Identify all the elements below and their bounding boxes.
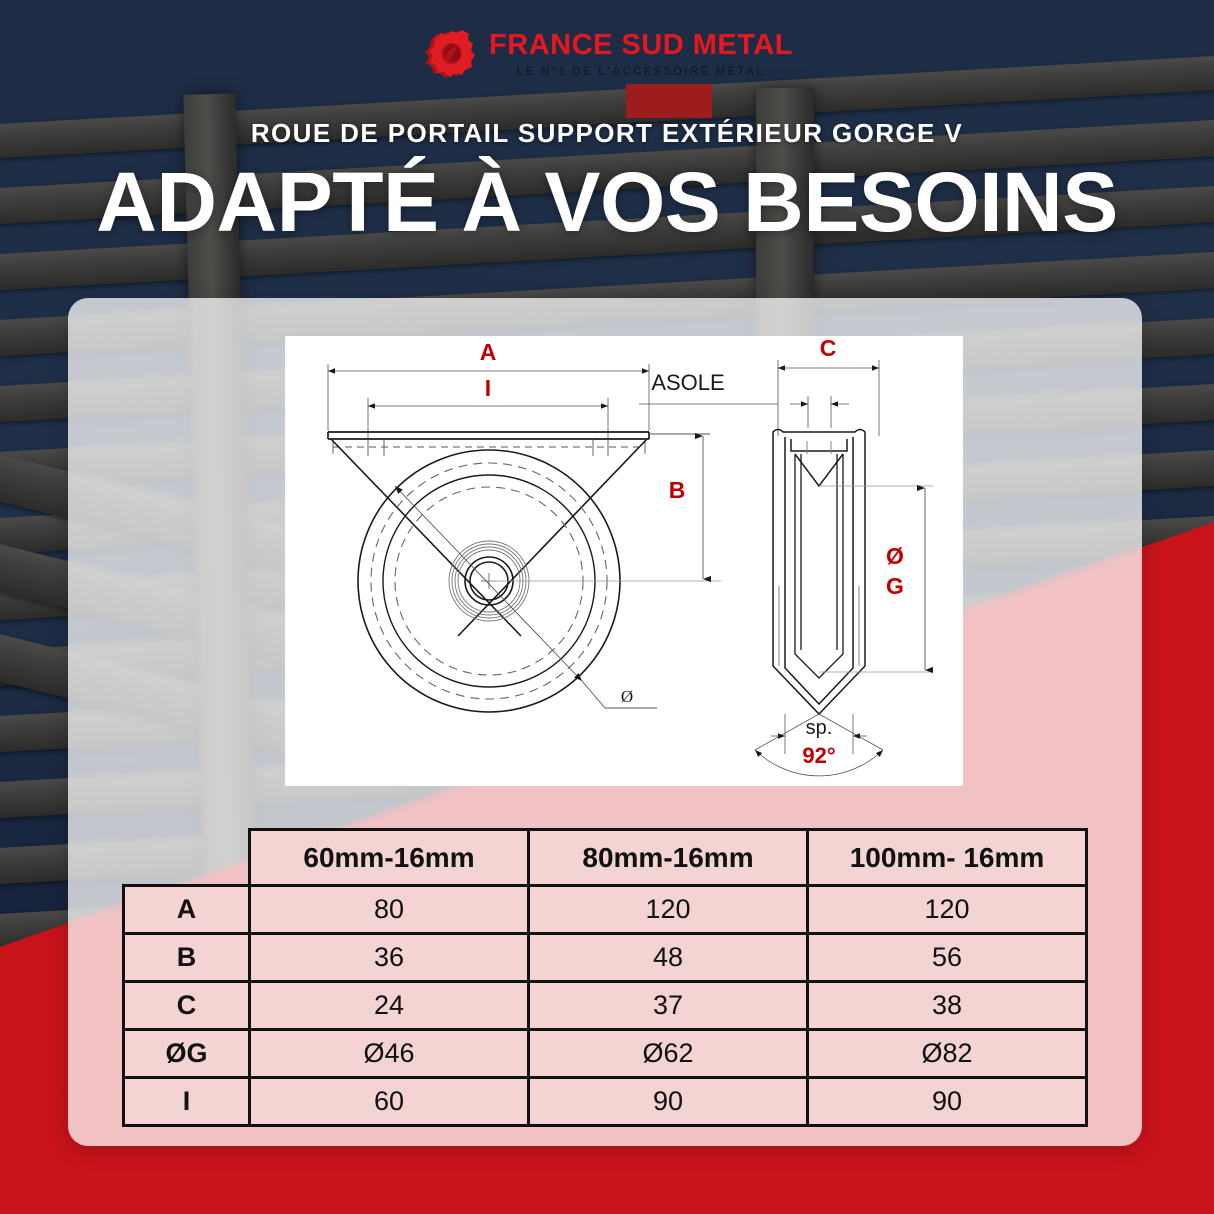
cell-phig-80mm: Ø62 — [529, 1030, 808, 1078]
table-col-header-2: 80mm-16mm — [529, 830, 808, 886]
cell-phig-100mm: Ø82 — [808, 1030, 1087, 1078]
page-headline: ADAPTÉ À VOS BESOINS — [0, 160, 1214, 244]
table-corner-cell — [124, 830, 250, 886]
table-col-header-3: 100mm- 16mm — [808, 830, 1087, 886]
row-label-a: A — [124, 886, 250, 934]
dim-label-a: A — [480, 339, 497, 365]
row-label-i: I — [124, 1078, 250, 1126]
cell-a-60mm: 80 — [250, 886, 529, 934]
cell-a-80mm: 120 — [529, 886, 808, 934]
table-header-row: 60mm-16mm 80mm-16mm 100mm- 16mm — [124, 830, 1087, 886]
cell-b-80mm: 48 — [529, 934, 808, 982]
poster-root: FRANCE SUD METAL LE N°1 DE L'ACCESSOIRE … — [0, 0, 1214, 1214]
dim-label-phi: Ø — [886, 543, 904, 569]
table-row: B 36 48 56 — [124, 934, 1087, 982]
cell-phig-60mm: Ø46 — [250, 1030, 529, 1078]
gear-icon — [421, 28, 477, 80]
row-label-phig: ØG — [124, 1030, 250, 1078]
label-sp: sp. — [806, 717, 833, 739]
dim-label-g: G — [886, 573, 904, 599]
brand-tagline: LE N°1 DE L'ACCESSOIRE MÉTAL — [517, 66, 766, 78]
cell-i-100mm: 90 — [808, 1078, 1087, 1126]
label-asole: ASOLE — [651, 370, 724, 395]
cell-c-100mm: 38 — [808, 982, 1087, 1030]
table-row: ØG Ø46 Ø62 Ø82 — [124, 1030, 1087, 1078]
cell-i-80mm: 90 — [529, 1078, 808, 1126]
row-label-c: C — [124, 982, 250, 1030]
brand-logo: FRANCE SUD METAL LE N°1 DE L'ACCESSOIRE … — [0, 28, 1214, 80]
cell-i-60mm: 60 — [250, 1078, 529, 1126]
brand-text: FRANCE SUD METAL LE N°1 DE L'ACCESSOIRE … — [489, 31, 793, 78]
table-col-header-1: 60mm-16mm — [250, 830, 529, 886]
cell-b-100mm: 56 — [808, 934, 1087, 982]
technical-drawing-panel: A I — [285, 336, 963, 786]
table-row: I 60 90 90 — [124, 1078, 1087, 1126]
gate-red-accent — [626, 84, 712, 118]
cell-b-60mm: 36 — [250, 934, 529, 982]
dim-label-c: C — [820, 336, 837, 361]
product-subtitle: ROUE DE PORTAIL SUPPORT EXTÉRIEUR GORGE … — [0, 118, 1214, 149]
table-row: A 80 120 120 — [124, 886, 1087, 934]
row-label-b: B — [124, 934, 250, 982]
cell-c-60mm: 24 — [250, 982, 529, 1030]
label-angle: 92° — [802, 743, 835, 768]
brand-name: FRANCE SUD METAL — [489, 31, 793, 60]
table-row: C 24 37 38 — [124, 982, 1087, 1030]
cell-a-100mm: 120 — [808, 886, 1087, 934]
cell-c-80mm: 37 — [529, 982, 808, 1030]
dim-label-i: I — [485, 375, 491, 401]
dim-label-b: B — [669, 477, 686, 503]
dim-label-diameter: Ø — [621, 687, 633, 706]
specifications-table: 60mm-16mm 80mm-16mm 100mm- 16mm A 80 120… — [122, 828, 1088, 1127]
